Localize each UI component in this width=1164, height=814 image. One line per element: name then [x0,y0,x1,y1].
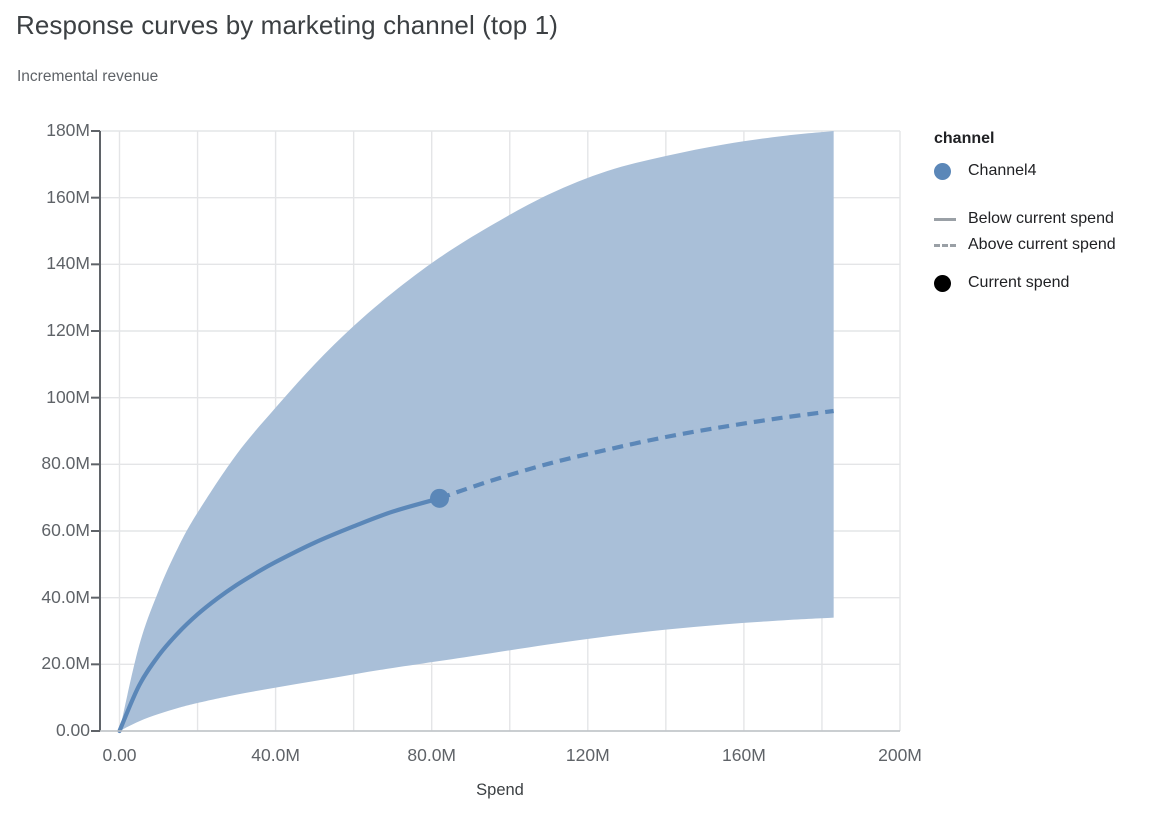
legend-spacer [934,258,1164,270]
legend-item-below-current-spend[interactable]: Below current spend [934,206,1164,232]
current-spend-dot-shape [934,275,951,292]
legend-item-label: Current spend [968,274,1069,292]
x-axis-tick-label: 40.0M [221,745,331,766]
y-axis-tick-label: 180M [4,120,90,141]
dashed-line-icon [934,244,968,247]
dashed-line-shape [934,244,956,247]
legend-item-channel4[interactable]: Channel4 [934,158,1164,184]
solid-line-shape [934,218,956,221]
legend-spacer [934,184,1164,206]
current-spend-dot-icon [934,275,968,292]
x-axis-title: Spend [0,781,1000,800]
y-axis-tick-label: 160M [4,187,90,208]
legend-item-current-spend[interactable]: Current spend [934,270,1164,296]
current-spend-marker[interactable] [430,489,449,508]
legend-title: channel [934,130,1164,148]
plot-svg [0,0,920,814]
y-axis-tick-label: 120M [4,320,90,341]
x-axis-tick-label: 120M [533,745,643,766]
y-axis-tick-label: 100M [4,387,90,408]
y-axis-tick-label: 40.0M [4,587,90,608]
series-dot-shape [934,163,951,180]
legend: channel Channel4 Below current spend Abo… [934,130,1164,296]
plot-area: 0.0020.0M40.0M60.0M80.0M100M120M140M160M… [0,0,920,814]
legend-item-label: Channel4 [968,162,1037,180]
x-axis-tick-label: 80.0M [377,745,487,766]
x-axis-tick-label: 160M [689,745,799,766]
y-axis-tick-label: 80.0M [4,453,90,474]
legend-item-label: Above current spend [968,236,1116,254]
y-axis-tick-label: 0.00 [4,720,90,741]
series-dot-icon [934,163,968,180]
y-axis-tick-label: 20.0M [4,653,90,674]
legend-item-label: Below current spend [968,210,1114,228]
y-axis-tick-label: 60.0M [4,520,90,541]
x-axis-tick-label: 0.00 [65,745,175,766]
legend-item-above-current-spend[interactable]: Above current spend [934,232,1164,258]
solid-line-icon [934,218,968,221]
x-axis-tick-label: 200M [845,745,955,766]
chart-container: Response curves by marketing channel (to… [0,0,1164,814]
y-axis-tick-label: 140M [4,253,90,274]
